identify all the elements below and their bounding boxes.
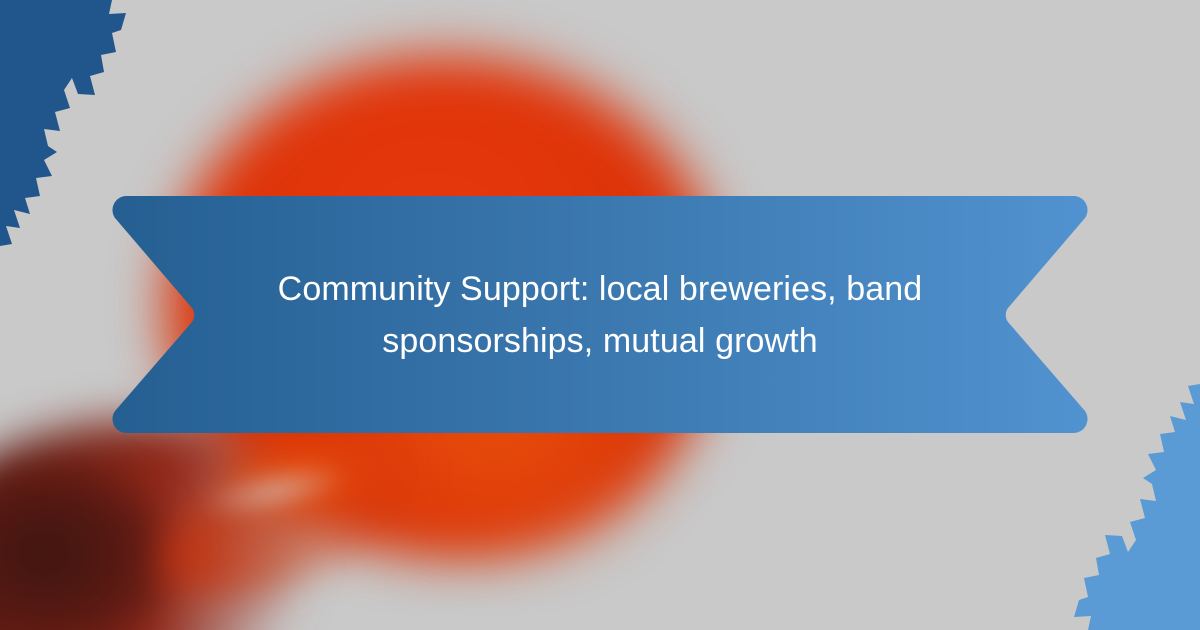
banner-text-line-2: sponsorships, mutual growth: [382, 315, 817, 367]
banner-text-line-1: Community Support: local breweries, band: [278, 263, 923, 315]
poster-canvas: Community Support: local breweries, band…: [0, 0, 1200, 630]
banner-text-block: Community Support: local breweries, band…: [112, 196, 1088, 433]
ribbon-banner: Community Support: local breweries, band…: [112, 196, 1088, 433]
